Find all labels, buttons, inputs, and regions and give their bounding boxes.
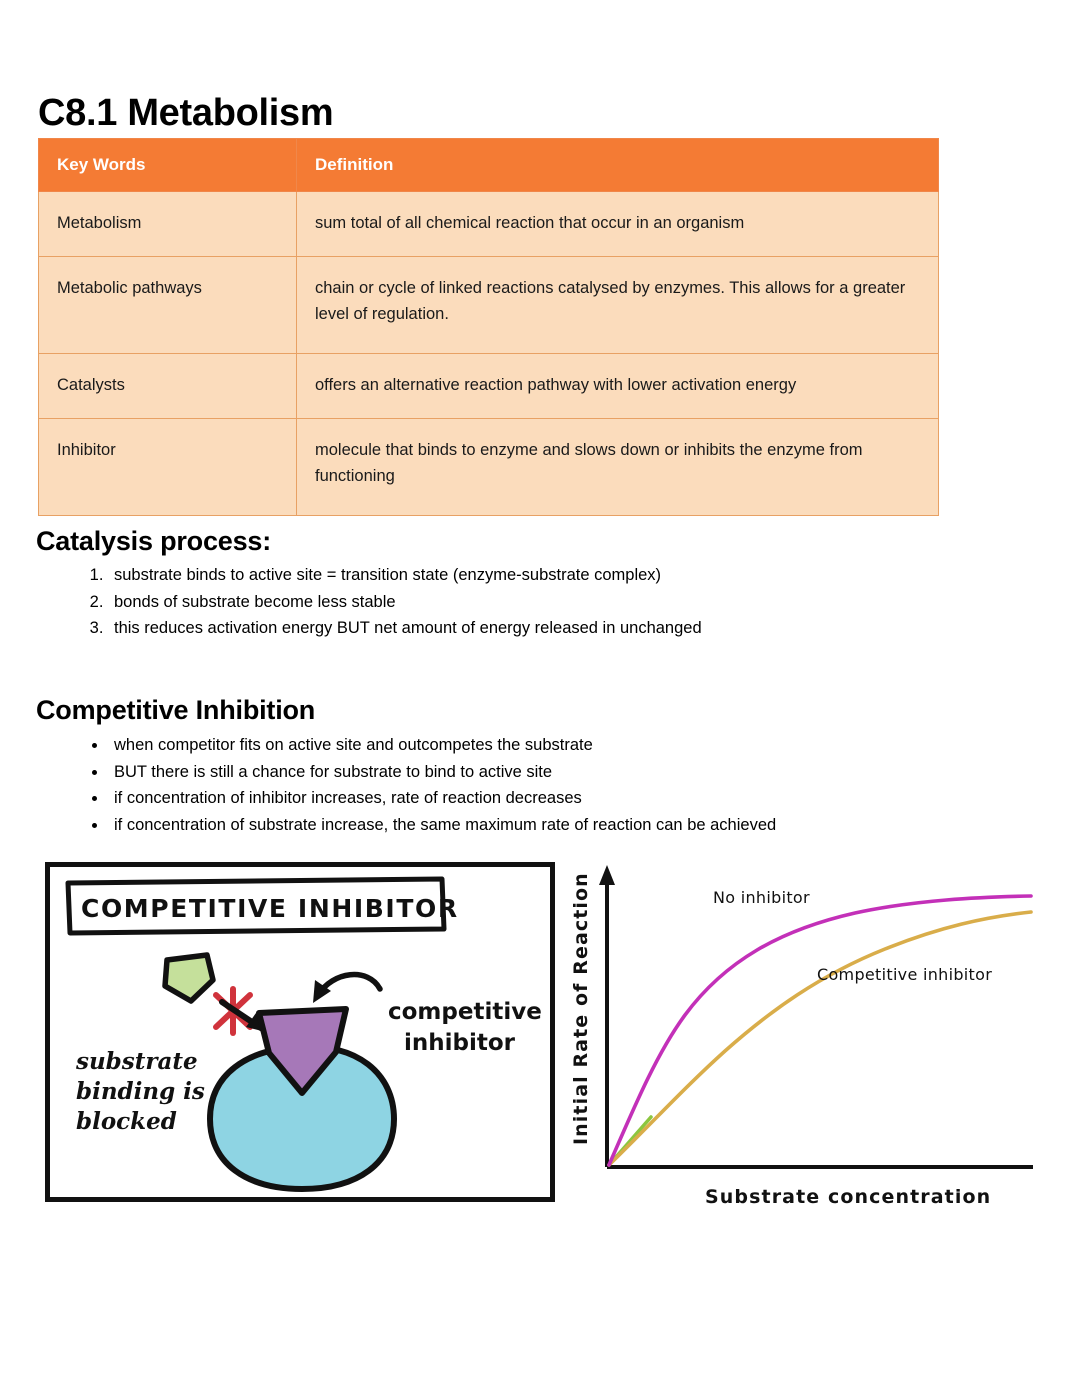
list-item: bonds of substrate become less stable bbox=[108, 589, 702, 615]
table-header-definition: Definition bbox=[297, 139, 939, 192]
table-cell-term: Metabolism bbox=[39, 192, 297, 257]
list-item: this reduces activation energy BUT net a… bbox=[108, 615, 702, 641]
list-item: if concentration of substrate increase, … bbox=[108, 812, 776, 838]
chart-svg: No inhibitor Competitive inhibitor Initi… bbox=[565, 855, 1045, 1220]
sketch-title-box: COMPETITIVE INHIBITOR bbox=[68, 879, 459, 933]
heading-competitive-inhibition: Competitive Inhibition bbox=[36, 695, 315, 726]
list-item: substrate binds to active site = transit… bbox=[108, 562, 702, 588]
table-header-keywords: Key Words bbox=[39, 139, 297, 192]
catalysis-steps-list: substrate binds to active site = transit… bbox=[70, 562, 702, 642]
sketch-title-text: COMPETITIVE INHIBITOR bbox=[81, 894, 459, 923]
label-line-1: competitive bbox=[388, 999, 542, 1025]
enzyme-kinetics-chart: No inhibitor Competitive inhibitor Initi… bbox=[565, 855, 1045, 1220]
table-cell-term: Catalysts bbox=[39, 354, 297, 419]
list-item: if concentration of inhibitor increases,… bbox=[108, 785, 776, 811]
figures-row: COMPETITIVE INHIBITOR bbox=[0, 855, 1080, 1225]
table-cell-definition: chain or cycle of linked reactions catal… bbox=[297, 257, 939, 354]
table-cell-term: Metabolic pathways bbox=[39, 257, 297, 354]
y-axis-title: Initial Rate of Reaction bbox=[570, 872, 592, 1145]
label-line-2: inhibitor bbox=[404, 1030, 516, 1056]
x-axis-title: Substrate concentration bbox=[705, 1186, 991, 1208]
table-header-row: Key Words Definition bbox=[39, 139, 939, 192]
substrate-shape-icon bbox=[165, 955, 213, 1001]
page-title: C8.1 Metabolism bbox=[38, 91, 333, 135]
sketch-illustration-svg: COMPETITIVE INHIBITOR bbox=[50, 867, 550, 1197]
document-page: C8.1 Metabolism Key Words Definition Met… bbox=[0, 0, 1080, 1397]
list-item: BUT there is still a chance for substrat… bbox=[108, 759, 776, 785]
competitive-points-list: when competitor fits on active site and … bbox=[70, 732, 776, 838]
table-cell-term: Inhibitor bbox=[39, 419, 297, 516]
list-item: when competitor fits on active site and … bbox=[108, 732, 776, 758]
table-row: Catalysts offers an alternative reaction… bbox=[39, 354, 939, 419]
substrate-blocked-label: substrate binding is blocked bbox=[75, 1048, 205, 1135]
annotation-competitive-inhibitor: Competitive inhibitor bbox=[817, 965, 992, 984]
table-cell-definition: sum total of all chemical reaction that … bbox=[297, 192, 939, 257]
competitive-inhibitor-label: competitive inhibitor bbox=[388, 999, 542, 1056]
table-row: Metabolic pathways chain or cycle of lin… bbox=[39, 257, 939, 354]
label-line-3: blocked bbox=[76, 1108, 177, 1135]
table-row: Inhibitor molecule that binds to enzyme … bbox=[39, 419, 939, 516]
table-row: Metabolism sum total of all chemical rea… bbox=[39, 192, 939, 257]
annotation-no-inhibitor: No inhibitor bbox=[713, 888, 810, 907]
heading-catalysis-process: Catalysis process: bbox=[36, 526, 271, 557]
label-line-2: binding is bbox=[76, 1078, 205, 1105]
table-cell-definition: offers an alternative reaction pathway w… bbox=[297, 354, 939, 419]
y-axis bbox=[599, 865, 615, 1167]
inhibitor-arrow-icon bbox=[313, 975, 380, 1003]
curve-no-inhibitor bbox=[609, 896, 1031, 1165]
competitive-inhibitor-sketch: COMPETITIVE INHIBITOR bbox=[45, 862, 555, 1202]
keywords-table: Key Words Definition Metabolism sum tota… bbox=[38, 138, 939, 516]
table-cell-definition: molecule that binds to enzyme and slows … bbox=[297, 419, 939, 516]
curve-competitive-inhibitor bbox=[609, 912, 1031, 1165]
label-line-1: substrate bbox=[75, 1048, 198, 1075]
